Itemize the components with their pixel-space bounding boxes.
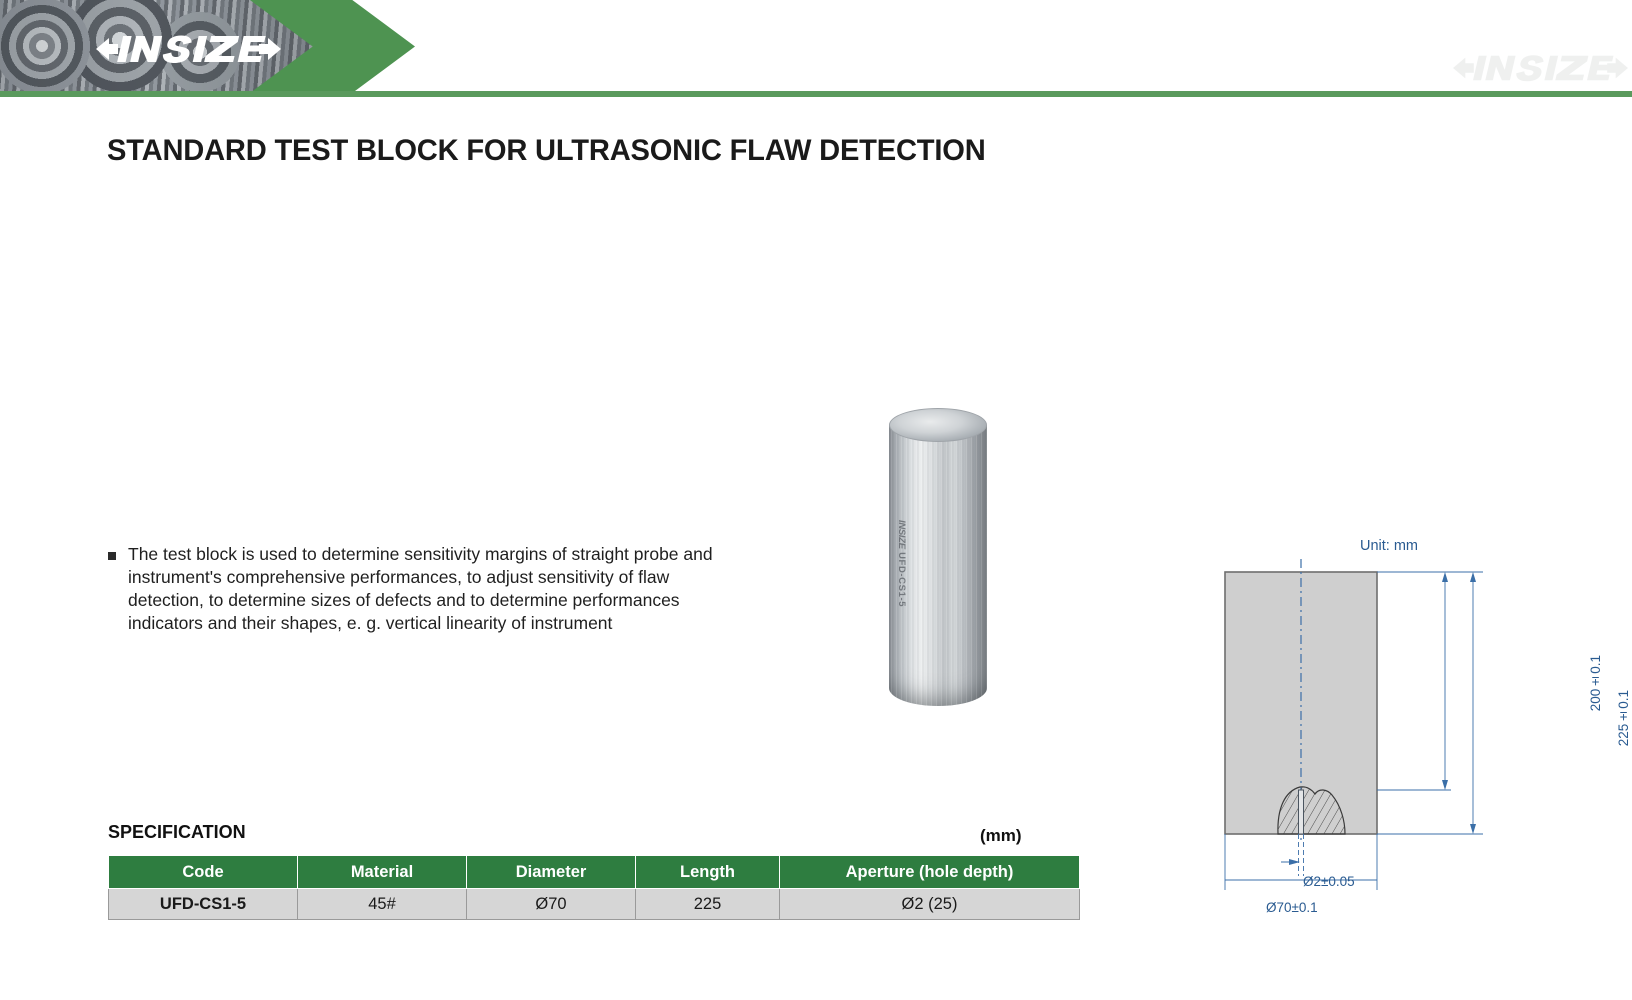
dim-label-outer-diameter: Ø70±0.1 xyxy=(1266,900,1318,915)
column-header-diameter: Diameter xyxy=(467,856,636,889)
specification-heading: SPECIFICATION xyxy=(108,822,246,843)
cell-diameter: Ø70 xyxy=(467,889,636,920)
technical-drawing xyxy=(1215,532,1615,932)
table-header-row: Code Material Diameter Length Aperture (… xyxy=(109,856,1080,889)
page-header xyxy=(0,0,1632,97)
column-header-length: Length xyxy=(636,856,780,889)
drawing-flat-bottom-hole xyxy=(1299,790,1304,834)
bullet-square-icon xyxy=(108,552,116,560)
arrow-200-bottom xyxy=(1442,780,1448,790)
column-header-material: Material xyxy=(298,856,467,889)
cell-material: 45# xyxy=(298,889,467,920)
insize-logo[interactable] xyxy=(96,28,281,70)
cell-aperture: Ø2 (25) xyxy=(780,889,1080,920)
engraved-code: UFD-CS1-5 xyxy=(896,552,907,607)
arrow-225-top xyxy=(1470,572,1476,582)
arrow-225-bottom xyxy=(1470,824,1476,834)
page-title: STANDARD TEST BLOCK FOR ULTRASONIC FLAW … xyxy=(107,134,986,168)
product-photo-cylinder: INSIZE UFD-CS1-5 xyxy=(889,408,987,706)
cylinder-top-face xyxy=(889,408,987,442)
specification-table: Code Material Diameter Length Aperture (… xyxy=(108,855,1080,920)
dim-label-225: 225±0.1 xyxy=(1616,690,1631,746)
feature-bullet-text: The test block is used to determine sens… xyxy=(128,543,748,635)
list-item: The test block is used to determine sens… xyxy=(108,543,748,635)
cylinder-engraving: INSIZE UFD-CS1-5 xyxy=(896,520,907,670)
insize-watermark-logo xyxy=(1453,48,1628,88)
column-header-aperture: Aperture (hole depth) xyxy=(780,856,1080,889)
engraved-brand: INSIZE xyxy=(896,520,907,549)
arrow-200-top xyxy=(1442,572,1448,582)
specification-unit-note: (mm) xyxy=(980,826,1022,846)
dim-label-hole-diameter: Ø2±0.05 xyxy=(1303,874,1355,889)
cell-length: 225 xyxy=(636,889,780,920)
feature-bullet-list: The test block is used to determine sens… xyxy=(108,543,748,635)
header-green-rule xyxy=(0,91,1632,97)
dim-label-200: 200±0.1 xyxy=(1588,655,1603,711)
table-row: UFD-CS1-5 45# Ø70 225 Ø2 (25) xyxy=(109,889,1080,920)
cell-code: UFD-CS1-5 xyxy=(109,889,298,920)
column-header-code: Code xyxy=(109,856,298,889)
